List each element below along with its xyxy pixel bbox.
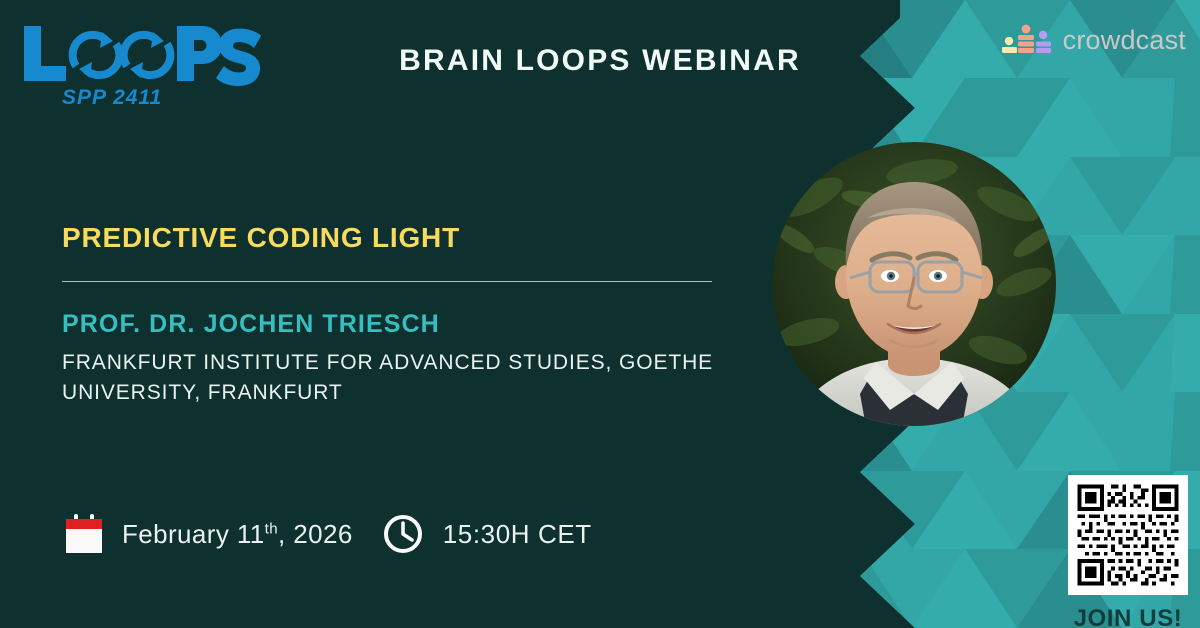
logo-subtitle: SPP 2411	[62, 86, 162, 108]
webinar-time: 15:30H CET	[443, 519, 592, 550]
date-text: February 11	[122, 519, 265, 549]
clock-icon	[381, 512, 425, 556]
webinar-poster: SPP 2411 BRAIN LOOPS WEBINAR crowdcast P…	[0, 0, 1200, 628]
join-us-label[interactable]: JOIN US!	[1068, 605, 1188, 628]
speaker-portrait	[772, 142, 1057, 427]
page-title: BRAIN LOOPS WEBINAR	[300, 44, 900, 78]
speaker-name: PROF. DR. JOCHEN TRIESCH	[62, 310, 440, 339]
divider	[62, 281, 712, 282]
crowdcast-logo: crowdcast	[1000, 24, 1186, 56]
crowdcast-wordmark: crowdcast	[1063, 25, 1186, 56]
date-year: , 2026	[278, 519, 353, 549]
calendar-icon	[62, 512, 106, 556]
crowdcast-mark-icon	[1000, 24, 1052, 56]
qr-code[interactable]	[1068, 475, 1188, 595]
webinar-date: February 11th, 2026	[122, 519, 353, 550]
join-cta-block[interactable]: JOIN US!	[1068, 475, 1188, 628]
date-ordinal: th	[265, 520, 278, 537]
loops-logo: SPP 2411	[14, 18, 274, 108]
talk-title: PREDICTIVE CODING LIGHT	[62, 222, 460, 254]
schedule-row: February 11th, 2026 15:30H CET	[62, 512, 592, 556]
speaker-affiliation: FRANKFURT INSTITUTE FOR ADVANCED STUDIES…	[62, 348, 732, 409]
